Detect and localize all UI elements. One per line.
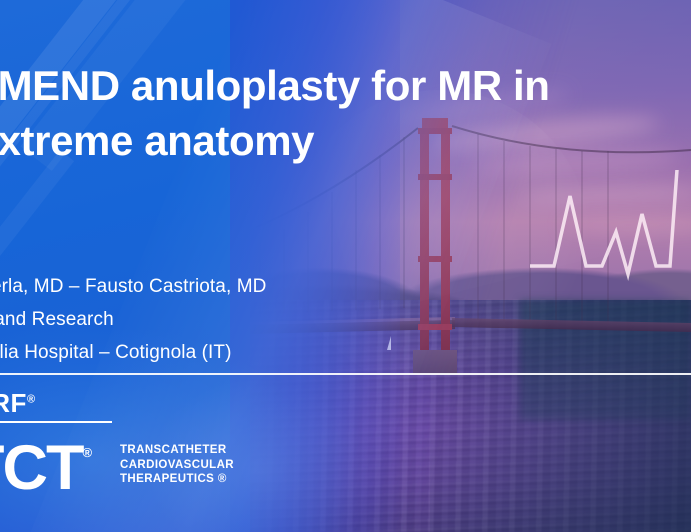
slide-title: …MEND anuloplasty for MR in …xtreme anat…: [0, 58, 656, 168]
presentation-title-slide: …MEND anuloplasty for MR in …xtreme anat…: [0, 0, 691, 532]
tct-tagline: TRANSCATHETER CARDIOVASCULAR THERAPEUTIC…: [120, 443, 234, 487]
registered-mark: ®: [82, 445, 92, 460]
crf-wordmark: CRF®: [0, 388, 36, 419]
tct-text: TCT: [0, 433, 82, 503]
tct-wordmark: TCT®: [0, 420, 92, 501]
crf-text: CRF: [0, 388, 27, 418]
registered-mark: ®: [27, 393, 36, 405]
presenter-affiliation-block: …o Nerla, MD – Fausto Castriota, MD …are…: [0, 270, 642, 369]
horizontal-divider: [0, 373, 691, 375]
